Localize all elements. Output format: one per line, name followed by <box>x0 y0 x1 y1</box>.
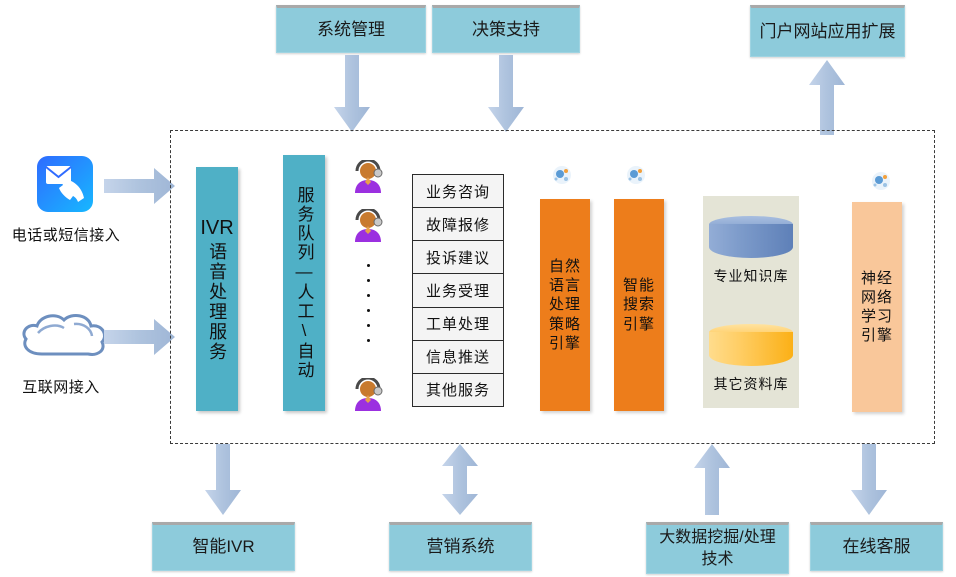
pillar-neural-line: 学习 <box>861 307 893 326</box>
top-box-label: 系统管理 <box>317 19 385 42</box>
bottom-box-intelligent-ivr[interactable]: 智能IVR <box>152 522 295 571</box>
bottom-box-label: 大数据挖掘/处理技术 <box>652 527 783 570</box>
pillar-search-line: 智能 <box>623 276 655 295</box>
pillar-search-lines: 智能 搜索 引擎 <box>623 276 655 334</box>
pillar-intelligent-search-engine[interactable]: 智能 搜索 引擎 <box>614 199 664 411</box>
pillar-service-queue[interactable]: 服务队列—人工\自动 <box>283 155 325 411</box>
arrow-internet-to-core <box>104 318 176 356</box>
database-cylinder-icon <box>709 216 793 262</box>
arrow-big-data-to-core <box>693 444 731 516</box>
top-box-system-management[interactable]: 系统管理 <box>276 5 426 53</box>
arrow-portal-extension-up <box>808 60 846 136</box>
cloud-icon <box>18 310 110 362</box>
arrow-core-to-intelligent-ivr <box>204 444 242 516</box>
sparkle-icon <box>625 164 647 186</box>
arrow-core-to-online-service <box>850 444 888 516</box>
pillar-nlp-line: 策略 <box>549 315 581 334</box>
pillar-ivr-vertical-text: 语音处理服务 <box>207 242 227 362</box>
pillar-queue-vertical-text: 服务队列—人工\自动 <box>294 186 313 380</box>
headset-agent-icon <box>353 378 383 412</box>
pillar-nlp-line: 自然 <box>549 257 581 276</box>
bottom-box-label: 营销系统 <box>427 536 495 559</box>
bottom-box-big-data-mining[interactable]: 大数据挖掘/处理技术 <box>646 522 789 574</box>
top-box-label: 门户网站应用扩展 <box>760 21 896 44</box>
pillar-ivr-voice-service[interactable]: IVR 语音处理服务 <box>196 167 238 411</box>
bottom-box-marketing-system[interactable]: 营销系统 <box>389 522 532 571</box>
arrow-core-marketing-bidirectional <box>441 444 479 516</box>
list-item[interactable]: 业务受理 <box>413 274 503 307</box>
top-box-portal-extension[interactable]: 门户网站应用扩展 <box>750 5 905 57</box>
headset-agent-icon <box>353 209 383 243</box>
pillar-nlp-line: 引擎 <box>549 334 581 353</box>
headset-agent-icon <box>353 160 383 194</box>
agent-ellipsis-dots <box>353 258 383 348</box>
knowledge-base-panel: 专业知识库 其它资料库 <box>703 196 799 408</box>
top-box-decision-support[interactable]: 决策支持 <box>432 5 580 53</box>
pillar-nlp-strategy-engine[interactable]: 自然 语言 处理 策略 引擎 <box>540 199 590 411</box>
bottom-box-label: 在线客服 <box>843 536 911 559</box>
pillar-nlp-line: 处理 <box>549 295 581 314</box>
diagram-canvas: 系统管理 决策支持 门户网站应用扩展 <box>0 0 956 577</box>
sparkle-icon <box>551 164 573 186</box>
list-item[interactable]: 故障报修 <box>413 208 503 241</box>
arrow-phone-to-core <box>104 167 176 205</box>
knowledge-base-label: 专业知识库 <box>709 266 793 286</box>
pillar-nlp-lines: 自然 语言 处理 策略 引擎 <box>549 257 581 353</box>
pillar-neural-line: 引擎 <box>861 326 893 345</box>
pillar-neural-lines: 神经 网络 学习 引擎 <box>861 269 893 346</box>
service-list[interactable]: 业务咨询 故障报修 投诉建议 业务受理 工单处理 信息推送 其他服务 <box>412 174 504 407</box>
list-item[interactable]: 其他服务 <box>413 374 503 406</box>
pillar-neural-network-engine[interactable]: 神经 网络 学习 引擎 <box>852 202 902 412</box>
bottom-box-label: 智能IVR <box>192 536 254 559</box>
database-cylinder-icon <box>709 324 793 370</box>
arrow-system-management-down <box>333 55 371 133</box>
knowledge-base-label: 其它资料库 <box>709 374 793 394</box>
pillar-neural-line: 网络 <box>861 288 893 307</box>
sparkle-icon <box>870 170 892 192</box>
pillar-search-line: 搜索 <box>623 295 655 314</box>
knowledge-base-item[interactable]: 其它资料库 <box>709 324 793 394</box>
input-label-internet: 互联网接入 <box>6 376 116 397</box>
top-box-label: 决策支持 <box>472 19 540 42</box>
arrow-decision-support-down <box>487 55 525 133</box>
list-item[interactable]: 工单处理 <box>413 308 503 341</box>
input-label-phone-sms: 电话或短信接入 <box>0 224 132 245</box>
list-item[interactable]: 业务咨询 <box>413 175 503 208</box>
knowledge-base-item[interactable]: 专业知识库 <box>709 216 793 286</box>
list-item[interactable]: 投诉建议 <box>413 241 503 274</box>
pillar-neural-line: 神经 <box>861 269 893 288</box>
pillar-ivr-latin: IVR <box>200 217 233 240</box>
pillar-nlp-line: 语言 <box>549 276 581 295</box>
phone-sms-icon <box>36 155 94 213</box>
bottom-box-online-customer-service[interactable]: 在线客服 <box>810 522 943 571</box>
pillar-search-line: 引擎 <box>623 315 655 334</box>
list-item[interactable]: 信息推送 <box>413 341 503 374</box>
